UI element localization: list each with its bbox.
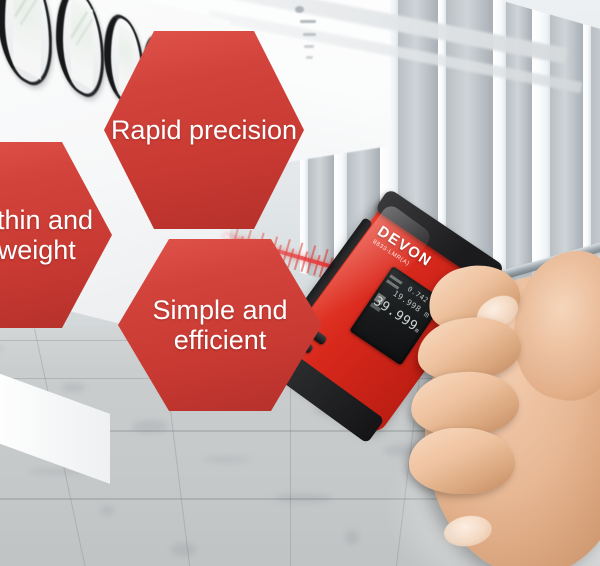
ceiling-vent-slat: [300, 20, 316, 23]
ceiling-sprinkler-icon: [295, 6, 304, 13]
floor-texture-smudge: [132, 420, 168, 433]
feature-hex-ultra-thin-label: Ultra-thin andlightweight: [0, 205, 97, 265]
floor-texture-smudge: [0, 346, 4, 351]
hand-holding-device: [395, 240, 600, 566]
floor-texture-smudge: [345, 531, 359, 544]
wall-picture-frame: [0, 0, 52, 97]
floor-texture-smudge: [203, 457, 250, 462]
finger-little: [409, 428, 515, 494]
product-feature-banner: DEVON 8833-LMR(A) 0.742 m 19.998 m 39.99…: [0, 0, 600, 566]
feature-hex-rapid-precision-label: Rapid precision: [107, 115, 301, 145]
floor-texture-smudge: [61, 383, 86, 392]
floor-texture-smudge: [274, 494, 332, 503]
wall-picture-frame: [56, 0, 104, 107]
floor-texture-smudge: [100, 506, 114, 515]
feature-hex-simple-efficient-label: Simple andefficient: [148, 295, 291, 355]
ceiling-vent-slat: [306, 56, 313, 59]
ceiling-vent-slat: [304, 45, 314, 48]
floor-texture-smudge: [171, 543, 196, 556]
ceiling-vent-slat: [303, 33, 316, 36]
